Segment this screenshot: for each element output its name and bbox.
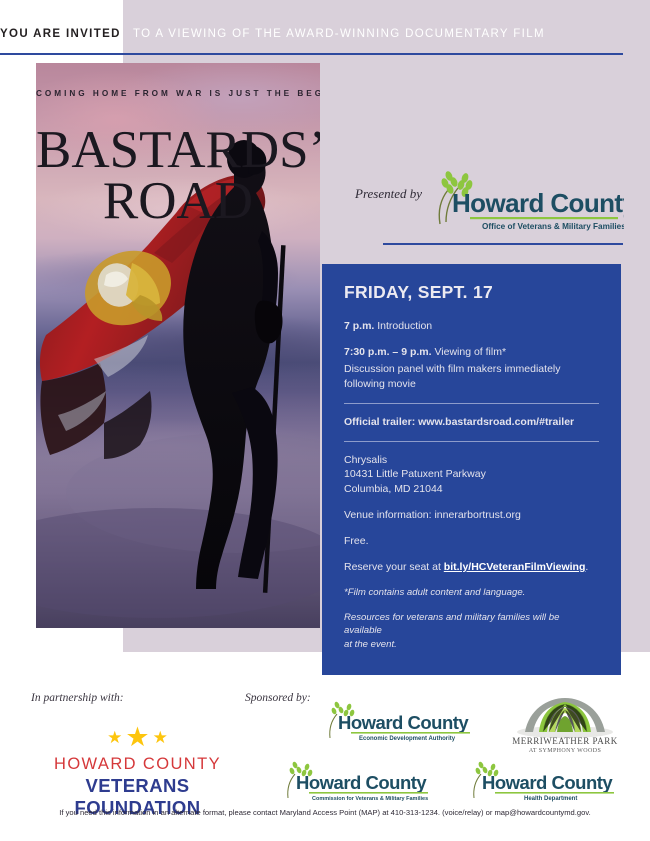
intro-time-bold: 7 p.m. (344, 320, 374, 332)
health-wordmark: Howard County (482, 772, 613, 793)
reserve-suffix: . (585, 561, 588, 573)
howard-county-eda-logo: Howard County Economic Development Autho… (318, 700, 478, 744)
hc-logo-subtitle: Office of Veterans & Military Families (482, 222, 624, 231)
cvmf-wordmark: Howard County (296, 772, 427, 793)
event-intro-time: 7 p.m. Introduction (344, 319, 599, 334)
event-details-panel: FRIDAY, SEPT. 17 7 p.m. Introduction 7:3… (322, 264, 621, 675)
pavilion-icon (517, 698, 613, 738)
trailer-label: Official trailer: (344, 416, 415, 428)
stars-icon: ★★★ (30, 724, 245, 751)
hc-veterans-foundation-logo: ★★★ HOWARD COUNTY VETERANS FOUNDATION (30, 724, 245, 790)
venue-name: Chrysalis (344, 454, 387, 466)
poster-title-line2: ROAD (36, 176, 320, 227)
event-panel-note: Discussion panel with film makers immedi… (344, 362, 599, 392)
event-date-heading: FRIDAY, SEPT. 17 (344, 282, 599, 303)
presented-by-label: Presented by (355, 186, 422, 202)
event-price: Free. (344, 534, 599, 549)
partnership-label: In partnership with: (31, 692, 124, 704)
poster-title-line1: BASTARDS’ (36, 125, 320, 176)
header-divider-rule (0, 53, 623, 55)
panel-note-line1: Discussion panel with film makers immedi… (344, 363, 561, 375)
trailer-url[interactable]: www.bastardsroad.com/#trailer (418, 416, 574, 428)
howard-county-cvmf-logo: Howard County Commission for Veterans & … (276, 760, 436, 804)
film-poster: COMING HOME FROM WAR IS JUST THE BEGINNI… (36, 63, 320, 628)
hcvf-line1: HOWARD COUNTY (30, 755, 245, 774)
content-disclaimer: *Film contains adult content and languag… (344, 586, 599, 600)
health-subtitle: Health Department (524, 796, 577, 802)
howard-county-ovmf-logo: Howard County Office of Veterans & Milit… (424, 166, 624, 238)
flyer-page: YOU ARE INVITED TO A VIEWING OF THE AWAR… (0, 0, 650, 841)
venue-info: Venue information: innerarbortrust.org (344, 508, 599, 523)
poster-tagline: COMING HOME FROM WAR IS JUST THE BEGINNI… (36, 89, 320, 98)
intro-time-rest: Introduction (374, 320, 432, 332)
eda-wordmark: Howard County (338, 712, 469, 733)
film-time-bold: 7:30 p.m. – 9 p.m. (344, 346, 432, 358)
panel-divider-1 (344, 403, 599, 404)
eda-subtitle: Economic Development Authority (359, 736, 456, 742)
venue-address: Chrysalis 10431 Little Patuxent Parkway … (344, 453, 599, 498)
invitation-header: YOU ARE INVITED TO A VIEWING OF THE AWAR… (0, 22, 650, 46)
resources-line2: at the event. (344, 639, 397, 650)
reserve-prefix: Reserve your seat at (344, 561, 444, 573)
venue-city: Columbia, MD 21044 (344, 483, 443, 495)
event-film-time: 7:30 p.m. – 9 p.m. Viewing of film* (344, 345, 599, 360)
sponsored-by-label: Sponsored by: (245, 692, 311, 704)
merriweather-park-logo: MERRIWEATHER PARK AT SYMPHONY WOODS (505, 692, 625, 754)
resources-note: Resources for veterans and military fami… (344, 611, 599, 652)
merriweather-line1: MERRIWEATHER PARK (512, 736, 617, 746)
venue-street: 10431 Little Patuxent Parkway (344, 468, 486, 480)
panel-note-line2: following movie (344, 378, 416, 390)
hc-logo-wordmark: Howard County (452, 188, 624, 218)
panel-divider-2 (344, 441, 599, 442)
resources-line1: Resources for veterans and military fami… (344, 612, 559, 637)
reservation-link[interactable]: bit.ly/HCVeteranFilmViewing (444, 561, 586, 573)
logo-divider-rule (383, 243, 623, 245)
reservation-row: Reserve your seat at bit.ly/HCVeteranFil… (344, 560, 599, 575)
trailer-row: Official trailer: www.bastardsroad.com/#… (344, 415, 599, 430)
howard-county-health-logo: Howard County Health Department (462, 760, 622, 804)
accessibility-footer-note: If you need this information in an alter… (0, 808, 650, 817)
invited-strong-text: YOU ARE INVITED (0, 28, 123, 40)
merriweather-line2: AT SYMPHONY WOODS (529, 748, 601, 754)
film-time-rest: Viewing of film* (432, 346, 507, 358)
poster-title: BASTARDS’ ROAD (36, 125, 320, 227)
invited-subtitle-text: TO A VIEWING OF THE AWARD-WINNING DOCUME… (123, 28, 545, 40)
cvmf-subtitle: Commission for Veterans & Military Famil… (312, 796, 428, 802)
